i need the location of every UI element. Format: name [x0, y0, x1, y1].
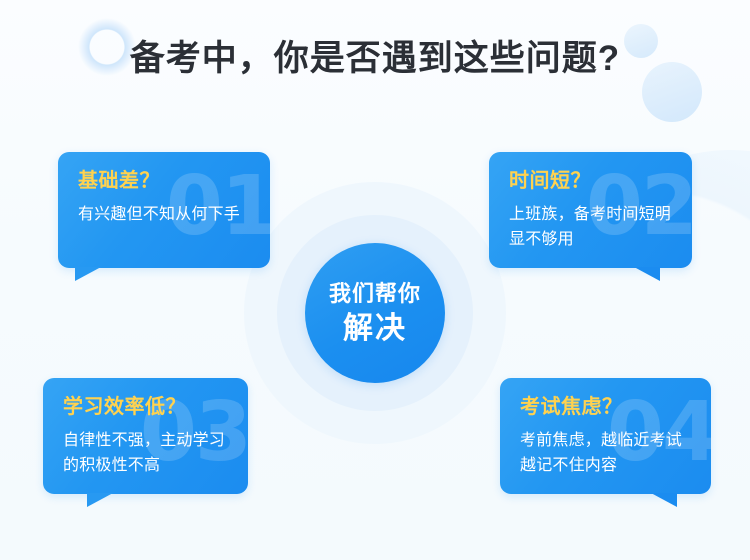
card-body: 有兴趣但不知从何下手: [78, 203, 250, 228]
card-body: 上班族，备考时间短明显不够用: [509, 203, 672, 253]
speech-tail-01-icon: [75, 267, 101, 281]
problem-card-04[interactable]: 04 考试焦虑？ 考前焦虑，越临近考试越记不住内容: [500, 378, 711, 494]
hub-circle: 我们帮你 解决: [305, 243, 445, 383]
card-title: 时间短？: [509, 169, 672, 193]
hub-line-1: 我们帮你: [329, 283, 421, 305]
speech-tail-04-icon: [651, 493, 677, 507]
problem-card-01[interactable]: 01 基础差？ 有兴趣但不知从何下手: [58, 152, 270, 268]
card-body: 考前焦虑，越临近考试越记不住内容: [520, 429, 691, 479]
card-title: 学习效率低？: [63, 395, 228, 419]
problem-card-02[interactable]: 02 时间短？ 上班族，备考时间短明显不够用: [489, 152, 692, 268]
card-title: 考试焦虑？: [520, 395, 691, 419]
card-title: 基础差？: [78, 169, 250, 193]
page-title: 备考中，你是否遇到这些问题?: [0, 38, 750, 80]
hub-line-2: 解决: [343, 314, 407, 344]
card-body: 自律性不强，主动学习的积极性不高: [63, 429, 228, 479]
speech-tail-02-icon: [634, 267, 660, 281]
problem-card-03[interactable]: 03 学习效率低？ 自律性不强，主动学习的积极性不高: [43, 378, 248, 494]
speech-tail-03-icon: [87, 493, 113, 507]
promo-banner: 备考中，你是否遇到这些问题? 我们帮你 解决 01 基础差？ 有兴趣但不知从何下…: [0, 0, 750, 560]
